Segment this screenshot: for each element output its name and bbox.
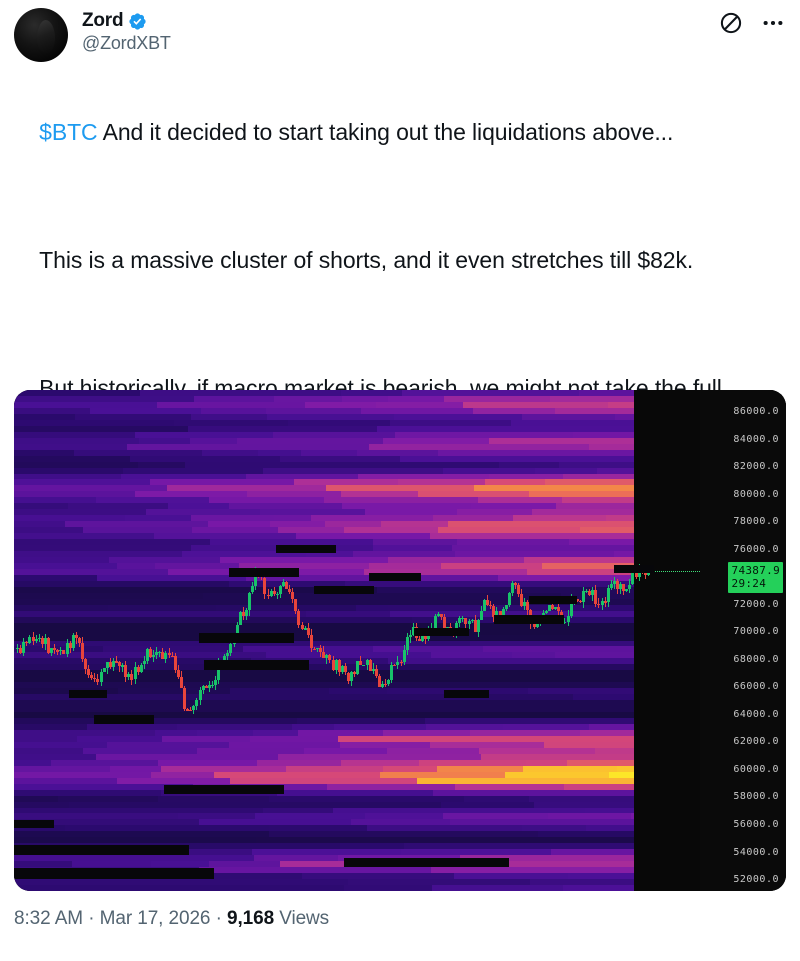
empty-liquidity-band xyxy=(276,545,336,553)
more-options-icon[interactable] xyxy=(760,10,786,36)
candle-body xyxy=(248,593,251,611)
candle-body xyxy=(226,653,229,656)
candle-body xyxy=(582,591,585,602)
candle-body xyxy=(393,665,396,666)
candle-body xyxy=(362,665,365,666)
empty-liquidity-band xyxy=(14,845,189,855)
candle-body xyxy=(594,590,597,603)
candle-body xyxy=(195,700,198,706)
candle-body xyxy=(517,585,520,594)
candle-body xyxy=(285,582,288,589)
empty-liquidity-band xyxy=(229,568,299,577)
candle-body xyxy=(291,592,294,599)
candle-wick xyxy=(122,663,123,672)
candle-body xyxy=(103,668,106,672)
empty-liquidity-band xyxy=(164,785,284,794)
tweet-line-1: And it decided to start taking out the l… xyxy=(98,119,674,145)
price-axis-tick: 76000.0 xyxy=(733,544,779,555)
candle-body xyxy=(607,588,610,602)
candle-body xyxy=(511,583,514,593)
tweet-meta: 8:32 AM · Mar 17, 2026 · 9,168 Views xyxy=(14,908,329,930)
price-axis-tick: 56000.0 xyxy=(733,819,779,830)
liquidation-heatmap-chart[interactable]: 74387.9 29:24 86000.084000.082000.080000… xyxy=(14,390,786,891)
candle-body xyxy=(297,611,300,625)
candle-body xyxy=(610,584,613,588)
candle-body xyxy=(183,688,186,710)
tweet-header: Zord @ZordXBT xyxy=(0,0,800,74)
price-axis-tick: 58000.0 xyxy=(733,791,779,802)
price-axis-tick: 62000.0 xyxy=(733,736,779,747)
candle-body xyxy=(387,680,390,684)
empty-liquidity-band xyxy=(414,628,469,636)
price-candlestick-series xyxy=(14,390,648,891)
account-handle[interactable]: @ZordXBT xyxy=(82,33,171,54)
empty-liquidity-band xyxy=(204,660,309,670)
candle-body xyxy=(477,620,480,632)
candle-body xyxy=(214,680,217,685)
candle-body xyxy=(375,669,378,676)
price-axis-tick: 68000.0 xyxy=(733,654,779,665)
empty-liquidity-band xyxy=(529,596,577,604)
candle-body xyxy=(84,659,87,669)
current-price-value: 74387.9 xyxy=(732,564,780,577)
candle-body xyxy=(199,690,202,700)
candle-countdown: 29:24 xyxy=(732,577,780,590)
candle-body xyxy=(545,611,548,613)
price-axis-tick: 66000.0 xyxy=(733,681,779,692)
empty-liquidity-band xyxy=(199,633,294,643)
candle-body xyxy=(143,661,146,664)
price-axis-tick: 80000.0 xyxy=(733,489,779,500)
text-gap-1 xyxy=(14,180,786,212)
price-axis-tick: 82000.0 xyxy=(733,461,779,472)
grok-icon[interactable] xyxy=(718,10,744,36)
empty-liquidity-band xyxy=(14,868,214,879)
price-axis-tick: 52000.0 xyxy=(733,874,779,885)
empty-liquidity-band xyxy=(614,565,654,573)
verified-badge-icon xyxy=(128,12,147,31)
candle-body xyxy=(294,599,297,612)
candle-body xyxy=(390,665,393,680)
empty-liquidity-band xyxy=(494,615,564,624)
price-axis-tick: 86000.0 xyxy=(733,406,779,417)
candle-body xyxy=(180,677,183,688)
candle-body xyxy=(406,637,409,649)
candle-body xyxy=(480,611,483,620)
candle-body xyxy=(468,621,471,624)
candle-body xyxy=(174,656,177,670)
cashtag-link-btc[interactable]: $BTC xyxy=(39,119,97,145)
candle-body xyxy=(625,589,628,590)
candle-body xyxy=(211,685,214,686)
views-count: 9,168 xyxy=(227,908,274,929)
text-gap-2 xyxy=(14,308,786,340)
candle-body xyxy=(279,586,282,594)
candle-body xyxy=(100,672,103,681)
price-axis-tick: 84000.0 xyxy=(733,434,779,445)
empty-liquidity-band xyxy=(314,586,374,594)
meta-sep-1: · xyxy=(88,908,94,929)
price-axis-tick: 64000.0 xyxy=(733,709,779,720)
empty-liquidity-band xyxy=(69,690,107,698)
views-label: Views xyxy=(279,908,329,929)
current-price-tag: 74387.9 29:24 xyxy=(728,562,783,593)
price-axis-tick: 78000.0 xyxy=(733,516,779,527)
candle-body xyxy=(81,643,84,659)
candle-body xyxy=(628,585,631,590)
candle-body xyxy=(505,605,508,608)
price-axis-tick: 72000.0 xyxy=(733,599,779,610)
candle-body xyxy=(263,578,266,595)
post-date: Mar 17, 2026 xyxy=(100,908,211,929)
candle-body xyxy=(434,616,437,629)
candle-body xyxy=(251,586,254,592)
meta-sep-2: · xyxy=(216,908,222,929)
price-axis-tick: 60000.0 xyxy=(733,764,779,775)
avatar[interactable] xyxy=(14,8,68,62)
empty-liquidity-band xyxy=(444,690,489,698)
price-axis-tick: 70000.0 xyxy=(733,626,779,637)
candle-body xyxy=(152,655,155,657)
candle-body xyxy=(276,594,279,595)
candle-body xyxy=(508,593,511,605)
empty-liquidity-band xyxy=(14,820,54,828)
candle-body xyxy=(567,616,570,623)
post-time: 8:32 AM xyxy=(14,908,83,929)
name-row: Zord xyxy=(82,10,171,32)
account-identity: Zord @ZordXBT xyxy=(82,8,171,54)
price-axis[interactable]: 74387.9 29:24 86000.084000.082000.080000… xyxy=(700,390,786,891)
empty-liquidity-band xyxy=(369,573,421,581)
display-name[interactable]: Zord xyxy=(82,10,123,32)
empty-liquidity-band xyxy=(344,858,509,867)
candle-body xyxy=(229,644,232,653)
candle-body xyxy=(403,650,406,662)
tweet-line-2: This is a massive cluster of shorts, and… xyxy=(39,247,693,273)
tweet-card: Zord @ZordXBT $BTC And it decided to sta… xyxy=(0,0,800,961)
candle-body xyxy=(192,706,195,711)
candle-body xyxy=(310,635,313,648)
price-axis-tick: 54000.0 xyxy=(733,847,779,858)
empty-liquidity-band xyxy=(94,715,154,724)
candle-body xyxy=(409,635,412,638)
candle-body xyxy=(307,628,310,635)
candle-body xyxy=(140,665,143,673)
chart-plot-area xyxy=(14,390,786,891)
candle-body xyxy=(245,610,248,616)
header-actions xyxy=(718,10,786,36)
